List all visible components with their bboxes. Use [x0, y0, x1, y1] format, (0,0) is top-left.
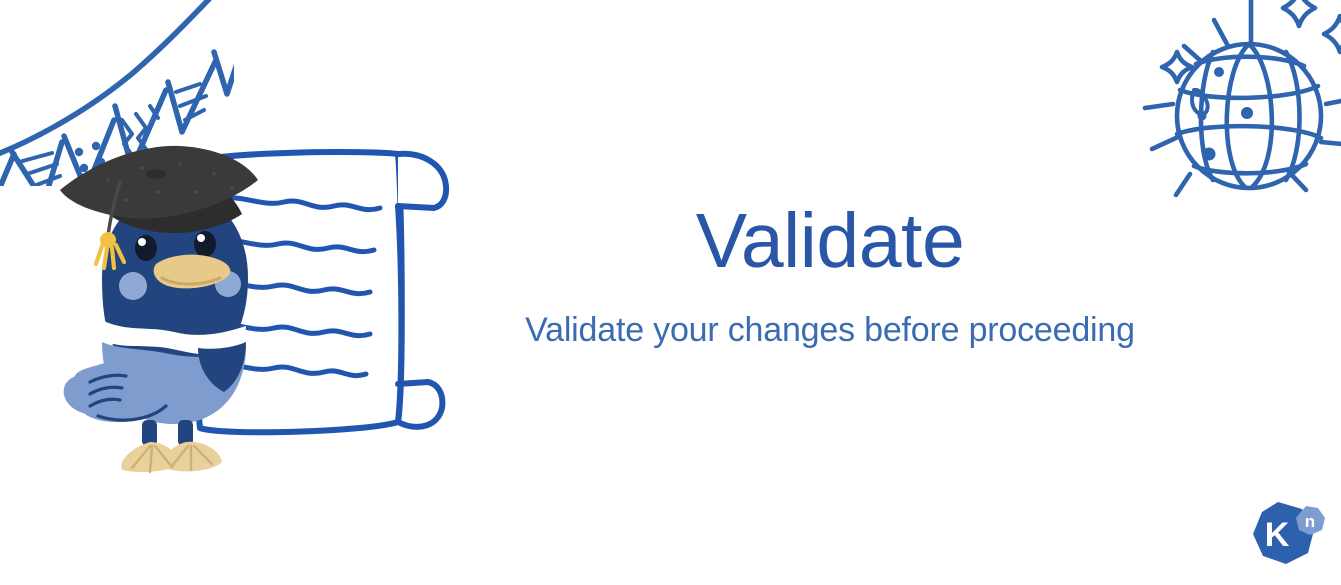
slide-canvas: Validate Validate your changes before pr…: [0, 0, 1341, 585]
page-subtitle: Validate your changes before proceeding: [470, 309, 1190, 352]
brand-logo: K n: [1248, 498, 1328, 572]
logo-letter-k: K: [1265, 516, 1290, 554]
hero-illustration: [46, 136, 466, 476]
text-block: Validate Validate your changes before pr…: [470, 200, 1190, 352]
discoball-decoration: [1118, 0, 1341, 230]
page-title: Validate: [470, 200, 1190, 283]
logo-letter-n: n: [1305, 512, 1315, 531]
